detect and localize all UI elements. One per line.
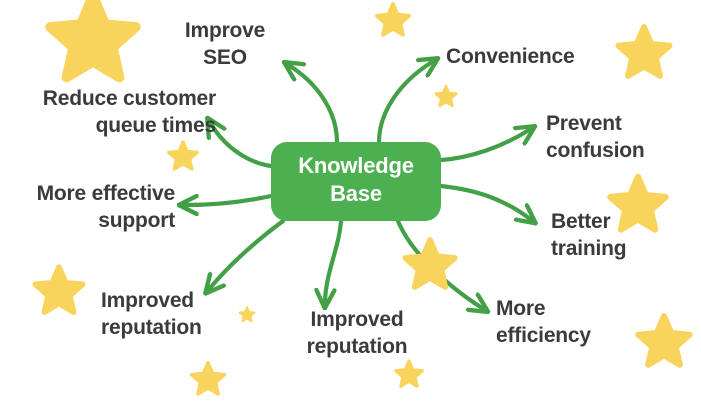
arrow-to-more-effective-support bbox=[186, 196, 271, 205]
center-node-label: Knowledge Base bbox=[271, 152, 441, 209]
arrow-to-improve-seo bbox=[290, 66, 337, 142]
star-bottom-left bbox=[192, 363, 224, 394]
star-top-right-medium bbox=[618, 27, 669, 76]
arrow-to-improved-reputation-center bbox=[325, 221, 341, 301]
arrow-to-better-training bbox=[441, 186, 530, 219]
star-mid-convenience bbox=[436, 86, 457, 106]
star-left-queue bbox=[169, 142, 198, 169]
star-left-reputation bbox=[35, 267, 83, 312]
star-top-center-small bbox=[377, 4, 409, 35]
branch-label-prevent-confusion[interactable]: Prevent confusion bbox=[546, 111, 676, 165]
arrow-to-improved-reputation-left bbox=[210, 221, 283, 288]
star-tiny-reputation bbox=[239, 307, 254, 321]
arrow-to-convenience bbox=[379, 62, 432, 142]
branch-label-convenience[interactable]: Convenience bbox=[446, 44, 596, 71]
branch-label-more-efficiency[interactable]: More efficiency bbox=[496, 296, 626, 350]
star-right-efficiency bbox=[638, 316, 689, 365]
star-bottom-center bbox=[396, 361, 423, 386]
branch-label-more-effective-support[interactable]: More effective support bbox=[12, 181, 175, 235]
diagram-canvas: Knowledge Base Improve SEOConvenienceRed… bbox=[0, 0, 701, 401]
branch-label-reduce-customer-queue-times[interactable]: Reduce customer queue times bbox=[16, 86, 216, 140]
star-top-left-large bbox=[50, 0, 136, 77]
branch-label-improved-reputation-left[interactable]: Improved reputation bbox=[101, 288, 241, 342]
branch-label-improve-seo[interactable]: Improve SEO bbox=[170, 18, 280, 72]
branch-label-improved-reputation-center[interactable]: Improved reputation bbox=[287, 307, 427, 361]
branch-label-better-training[interactable]: Better training bbox=[551, 209, 671, 263]
arrow-to-reduce-queue-times bbox=[211, 124, 271, 166]
arrow-to-prevent-confusion bbox=[441, 130, 529, 160]
